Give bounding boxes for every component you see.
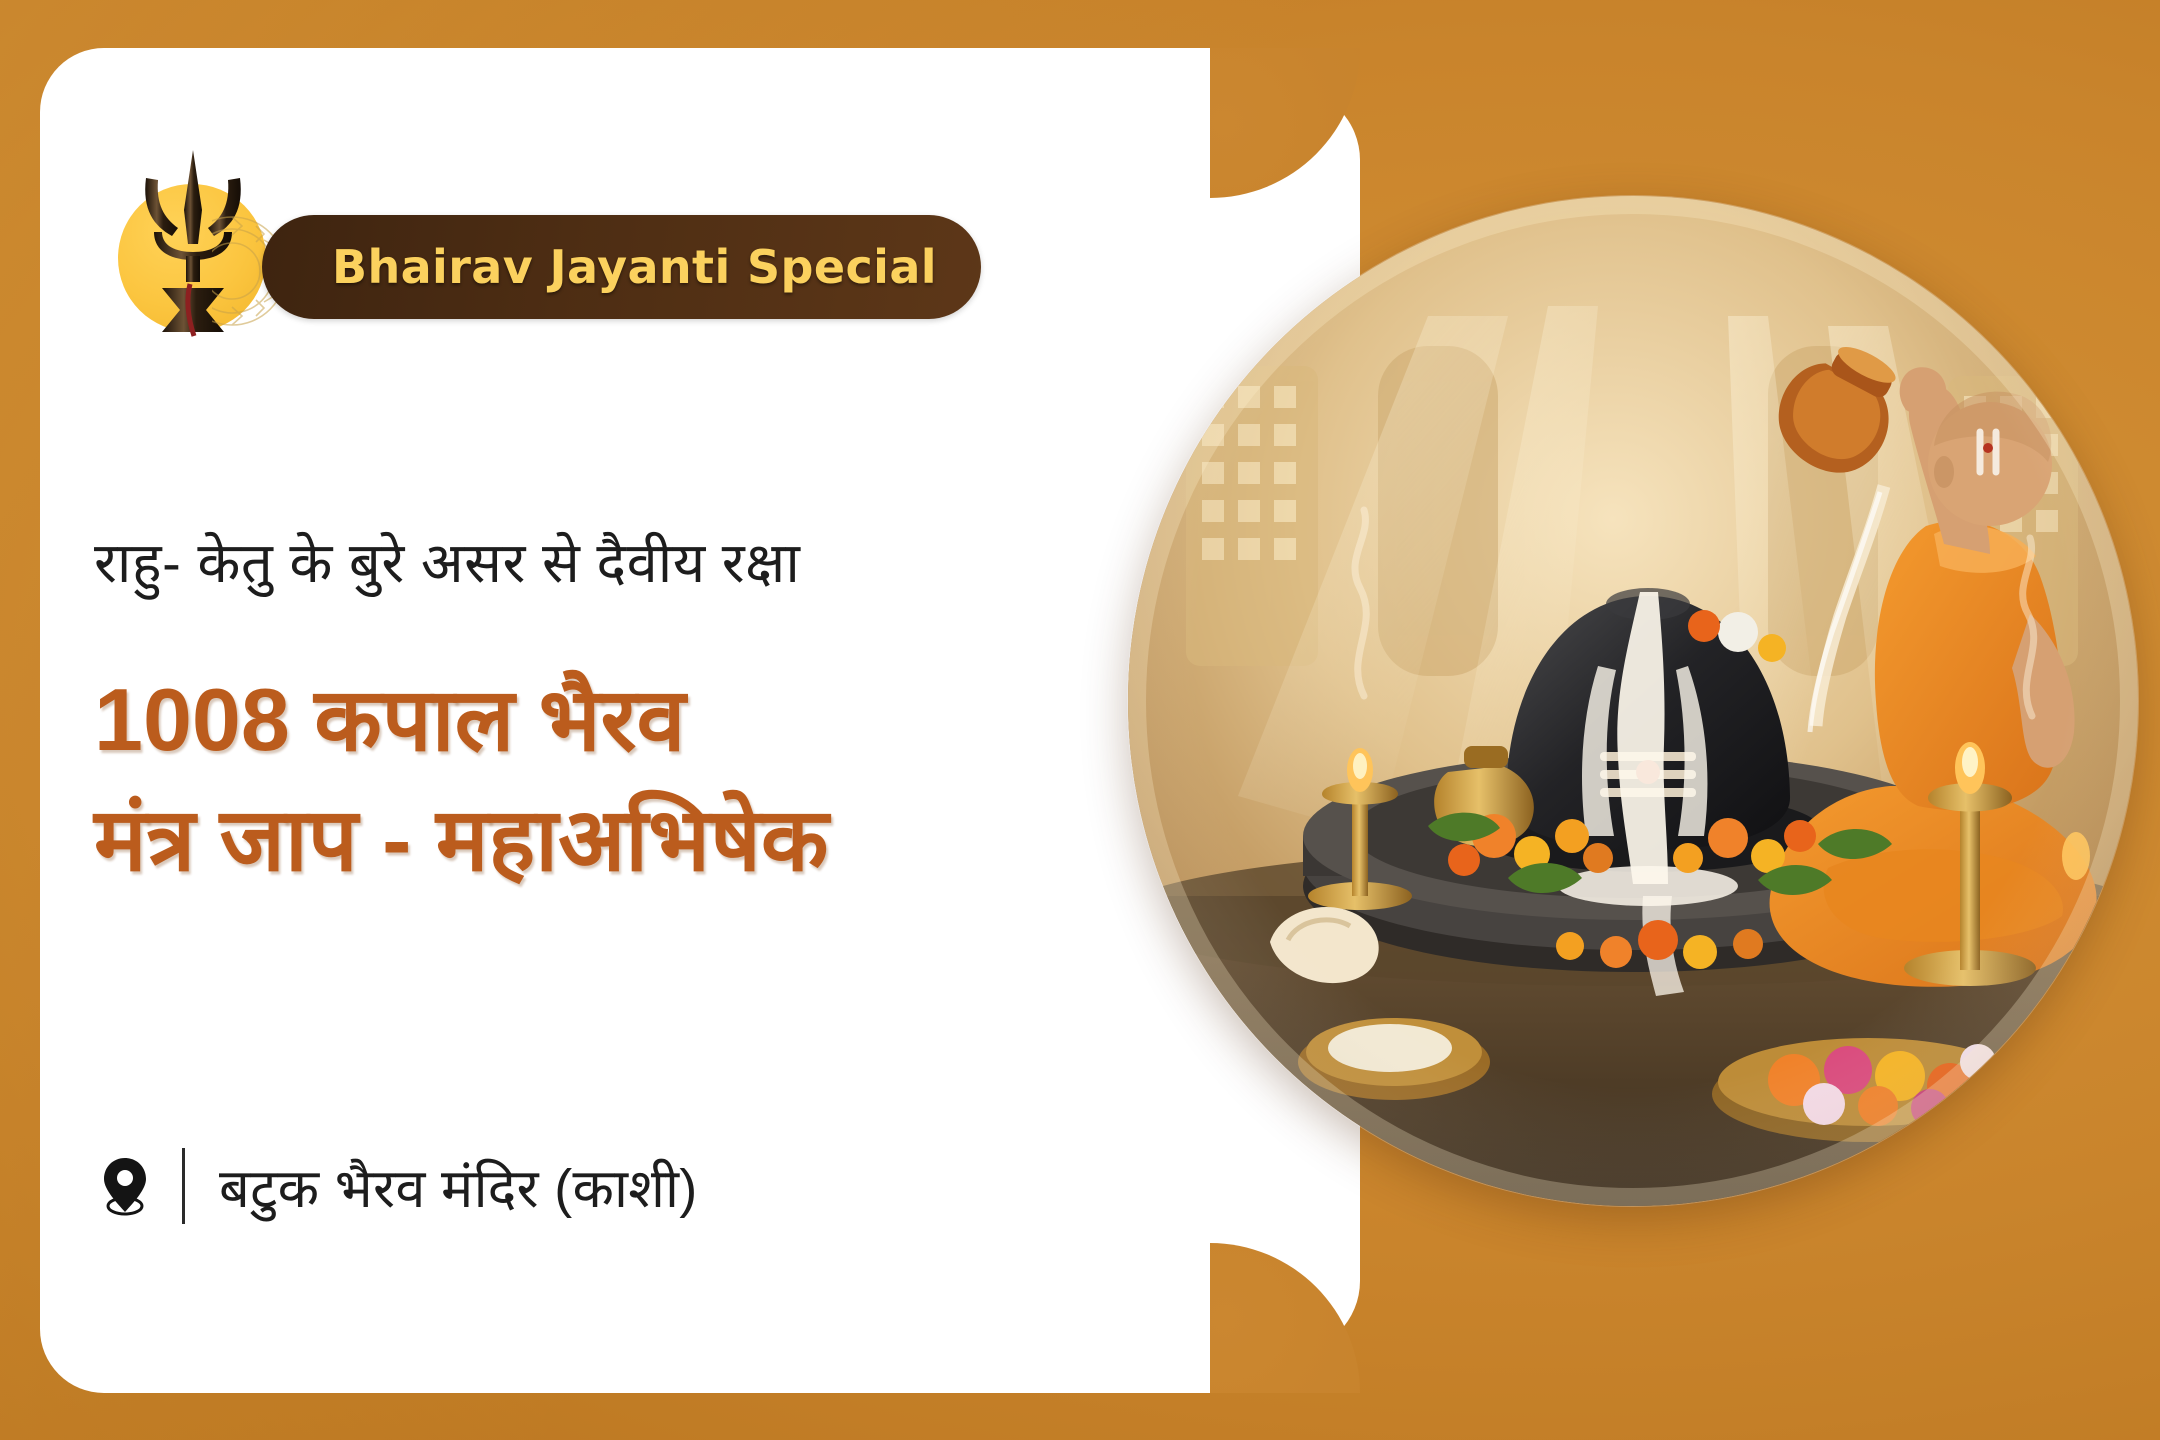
venue-row: बटुक भैरव मंदिर (काशी) xyxy=(98,1148,698,1224)
venue-divider xyxy=(182,1148,185,1224)
ritual-photo-illustration xyxy=(1128,196,2138,1206)
headline-line-1: 1008 कपाल भैरव xyxy=(94,660,828,780)
headline-line-2: मंत्र जाप - महाअभिषेक xyxy=(94,780,828,900)
poster-root: Bhairav Jayanti Special राहु- केतु के बु… xyxy=(0,0,2160,1440)
badge-bhairav-jayanti-special: Bhairav Jayanti Special xyxy=(262,215,981,319)
ritual-photo xyxy=(1128,196,2138,1206)
subtitle-text: राहु- केतु के बुरे असर से दैवीय रक्षा xyxy=(94,528,800,598)
headline-block: 1008 कपाल भैरव मंत्र जाप - महाअभिषेक xyxy=(94,660,828,899)
venue-name: बटुक भैरव मंदिर (काशी) xyxy=(219,1149,698,1223)
badge-label: Bhairav Jayanti Special xyxy=(332,240,937,294)
location-pin-icon xyxy=(98,1156,152,1216)
logo-group xyxy=(108,148,288,328)
